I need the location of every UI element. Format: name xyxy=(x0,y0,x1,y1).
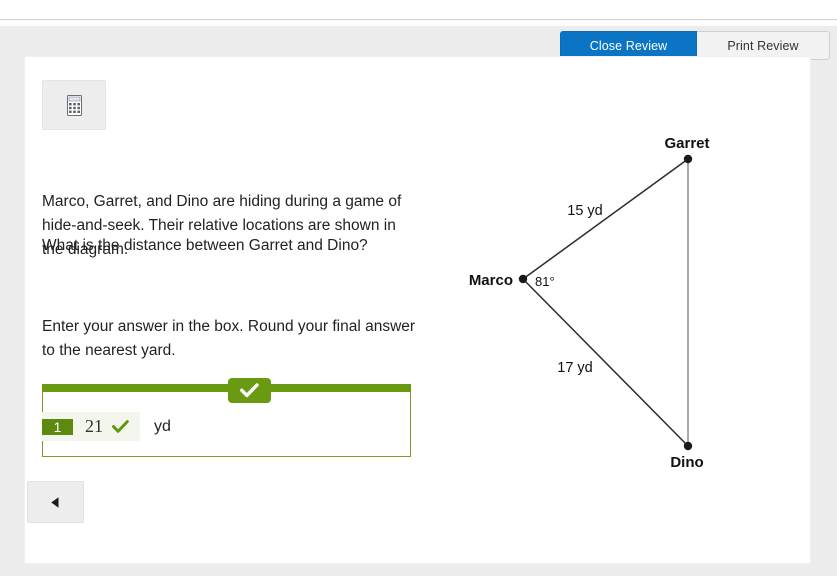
browser-top-strip xyxy=(0,0,837,19)
vertex-label-dino: Dino xyxy=(670,454,703,471)
question-prompt: What is the distance between Garret and … xyxy=(42,234,417,258)
vertex-label-garret: Garret xyxy=(664,135,709,152)
answer-correct-bar xyxy=(42,384,411,392)
hide-and-seek-triangle-diagram: Marco Garret Dino 15 yd 17 yd 81° xyxy=(425,67,795,477)
check-icon xyxy=(240,383,259,398)
angle-label-marco: 81° xyxy=(535,274,555,289)
vertex-marco-dot xyxy=(519,275,527,283)
answer-index-badge: 1 xyxy=(42,419,73,435)
correct-indicator-tab xyxy=(228,378,271,403)
side-marco-dino xyxy=(523,279,688,446)
check-icon xyxy=(112,420,129,434)
triangle-left-icon xyxy=(49,496,62,509)
close-review-button[interactable]: Close Review xyxy=(560,31,697,60)
answer-instructions: Enter your answer in the box. Round your… xyxy=(42,315,417,363)
review-toolbar: Close Review Print Review xyxy=(560,31,830,60)
answer-value: 21 xyxy=(73,416,112,437)
previous-question-button[interactable] xyxy=(27,481,84,523)
side-marco-garret xyxy=(523,159,688,279)
vertex-dino-dot xyxy=(684,442,692,450)
answer-correct-check xyxy=(112,420,140,434)
answer-input-field[interactable]: 1 21 xyxy=(42,412,140,441)
answer-unit-label: yd xyxy=(140,412,171,441)
question-content-panel: Marco, Garret, and Dino are hiding durin… xyxy=(25,57,810,563)
print-review-button[interactable]: Print Review xyxy=(697,31,830,60)
vertex-label-marco: Marco xyxy=(469,272,513,289)
calculator-button[interactable] xyxy=(42,80,106,130)
side-label-marco-dino: 17 yd xyxy=(557,360,592,376)
vertex-garret-dot xyxy=(684,155,692,163)
calculator-icon xyxy=(67,95,82,116)
side-label-marco-garret: 15 yd xyxy=(567,203,602,219)
answer-row: 1 21 yd xyxy=(42,412,171,441)
